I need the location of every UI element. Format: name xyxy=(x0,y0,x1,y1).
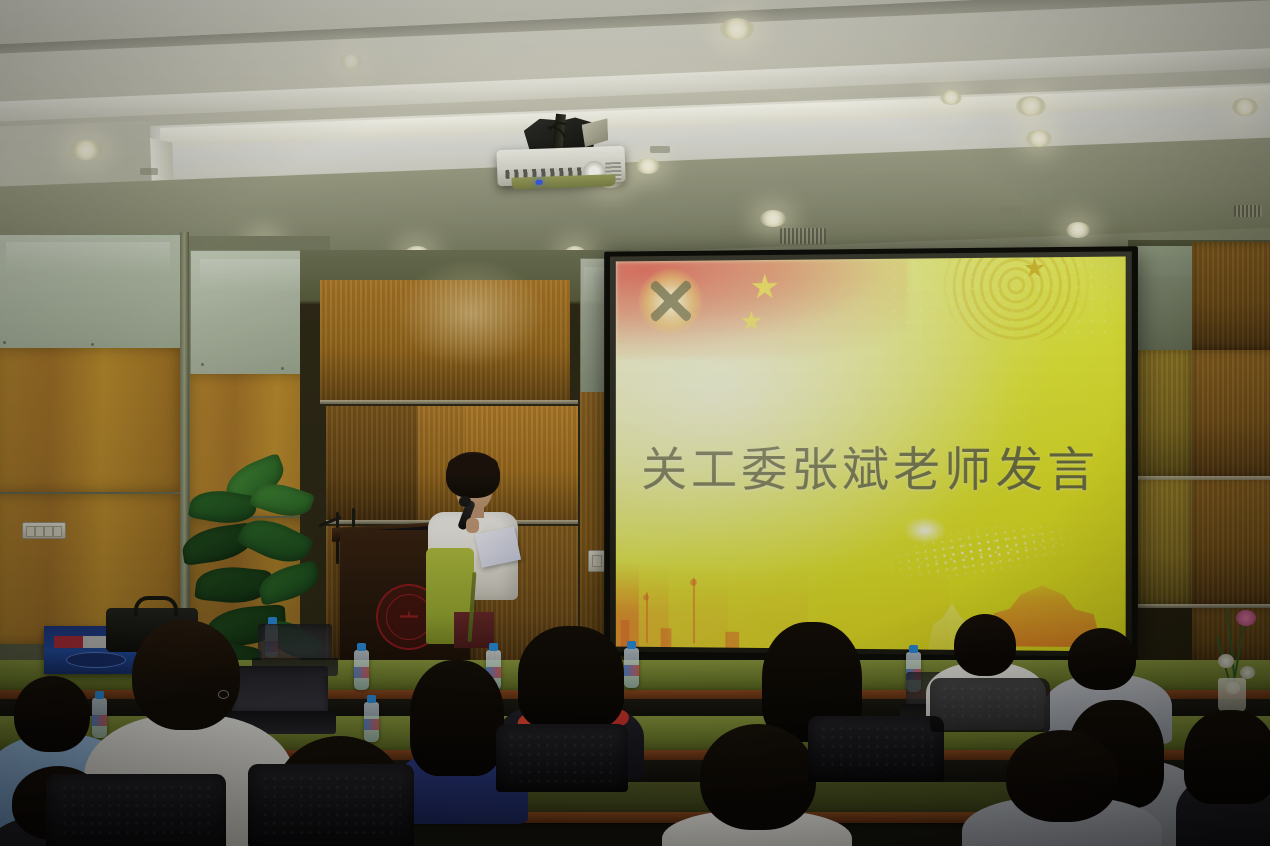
downlight xyxy=(1016,96,1046,116)
wall-spotlight-glow xyxy=(396,258,546,368)
wall-wood-panel xyxy=(1136,478,1192,606)
sparkle-dots-top xyxy=(888,256,1115,336)
projected-slide: 关工委张斌老师发言 xyxy=(616,256,1126,651)
chair-mesh xyxy=(507,732,618,782)
attendee-head xyxy=(1006,730,1118,822)
sparkle-burst xyxy=(903,517,947,545)
back-wall-wood-mid xyxy=(326,406,418,522)
chair-back xyxy=(930,678,1050,732)
chair-back xyxy=(248,764,414,846)
slide-title-text: 关工委张斌老师发言 xyxy=(616,430,1126,500)
skyline-block xyxy=(661,628,672,647)
skyline-block xyxy=(726,632,740,648)
light-switch-panel[interactable] xyxy=(22,522,66,539)
air-vent xyxy=(780,228,826,244)
downlight xyxy=(1232,98,1258,116)
attendee-head xyxy=(954,614,1016,676)
skyline-tower-sphere xyxy=(690,578,697,585)
presenter-skirt xyxy=(454,612,494,648)
projector-status-led xyxy=(536,180,543,185)
presenter-at-podium xyxy=(426,452,518,642)
wall-wood-panel xyxy=(1136,350,1192,478)
chair-mesh xyxy=(60,783,211,841)
downlight xyxy=(70,140,102,160)
sparkle-trail xyxy=(861,481,1125,622)
downlight xyxy=(340,54,362,68)
plant-leaf xyxy=(255,560,323,606)
chair-back xyxy=(46,774,226,846)
skyline-tower xyxy=(693,578,695,644)
ceiling xyxy=(0,0,1270,262)
attendee-hair xyxy=(518,626,624,730)
flower-bloom-pink xyxy=(1236,610,1256,626)
air-vent xyxy=(1234,205,1262,217)
downlight xyxy=(636,158,660,174)
wall-wood-panel xyxy=(1192,242,1270,350)
eyeglasses xyxy=(218,690,229,699)
attendee-head xyxy=(1068,628,1136,690)
skyline-tower-sphere xyxy=(643,595,649,601)
frosted-glass-panel xyxy=(1136,246,1192,350)
attendee-head xyxy=(132,620,240,730)
chair-back xyxy=(808,716,944,782)
wall-wood-panel xyxy=(1192,478,1270,606)
lecture-hall-photo: 关工委张斌老师发言 xyxy=(0,0,1270,846)
attendee-head xyxy=(700,724,816,830)
chair-back xyxy=(496,724,628,792)
downlight xyxy=(1066,222,1090,238)
emblem-mark xyxy=(651,281,691,322)
frosted-glass-panel xyxy=(0,234,182,354)
ceiling-speaker-grille xyxy=(140,168,158,175)
flower-vase xyxy=(1218,678,1246,712)
flower-bloom-white xyxy=(1218,654,1234,668)
presenter-hair-front xyxy=(448,454,498,476)
attendee-right-edge xyxy=(1176,710,1270,846)
attendee-hair xyxy=(1184,710,1270,804)
ceiling-speaker-grille xyxy=(1000,206,1022,214)
ceiling-speaker-grille xyxy=(650,146,670,153)
chair-mesh xyxy=(261,774,400,836)
microphone-head xyxy=(459,496,471,507)
flower-arrangement xyxy=(1196,596,1268,712)
downlight xyxy=(940,90,962,105)
chair-mesh xyxy=(940,684,1041,724)
chair-mesh xyxy=(819,724,933,773)
downlight xyxy=(720,18,754,40)
wall-wood-panel xyxy=(0,348,180,492)
attendee-head xyxy=(14,676,90,752)
downlight xyxy=(1026,130,1052,147)
wall-wood-panel xyxy=(1192,350,1270,478)
wall-trim-rail xyxy=(320,400,578,404)
wall-trim-rail xyxy=(1136,476,1270,480)
water-bottle xyxy=(354,650,369,690)
ceiling-projector xyxy=(496,138,626,190)
attendee-gray-tee xyxy=(962,730,1162,846)
presenter-hand xyxy=(466,518,479,533)
bag-handle xyxy=(134,596,178,616)
projection-screen: 关工委张斌老师发言 xyxy=(604,246,1138,662)
downlight xyxy=(760,210,786,227)
